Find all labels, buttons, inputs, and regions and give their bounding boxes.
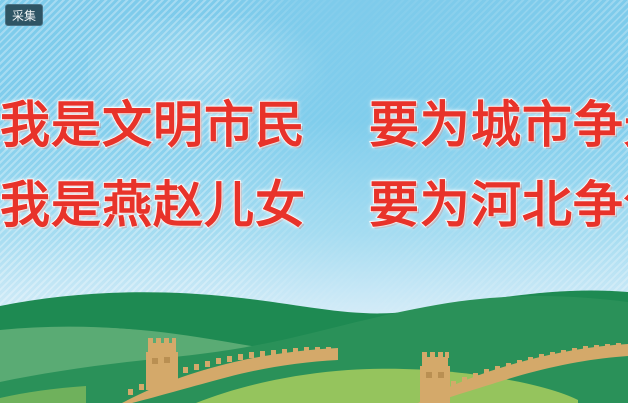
- headline-line-1: 我是文明市民 要为城市争光: [0, 96, 628, 154]
- poster-canvas: 我是文明市民 要为城市争光 我是燕赵儿女 要为河北争气 采集: [0, 0, 628, 403]
- headline-line-1-left: 我是文明市民: [0, 96, 306, 154]
- headline-line-2-left: 我是燕赵儿女: [0, 176, 306, 234]
- headline-line-2: 我是燕赵儿女 要为河北争气: [0, 176, 628, 234]
- capture-button[interactable]: 采集: [5, 4, 43, 26]
- headline-line-1-right: 要为城市争光: [369, 96, 628, 154]
- headline-line-2-right: 要为河北争气: [369, 176, 628, 234]
